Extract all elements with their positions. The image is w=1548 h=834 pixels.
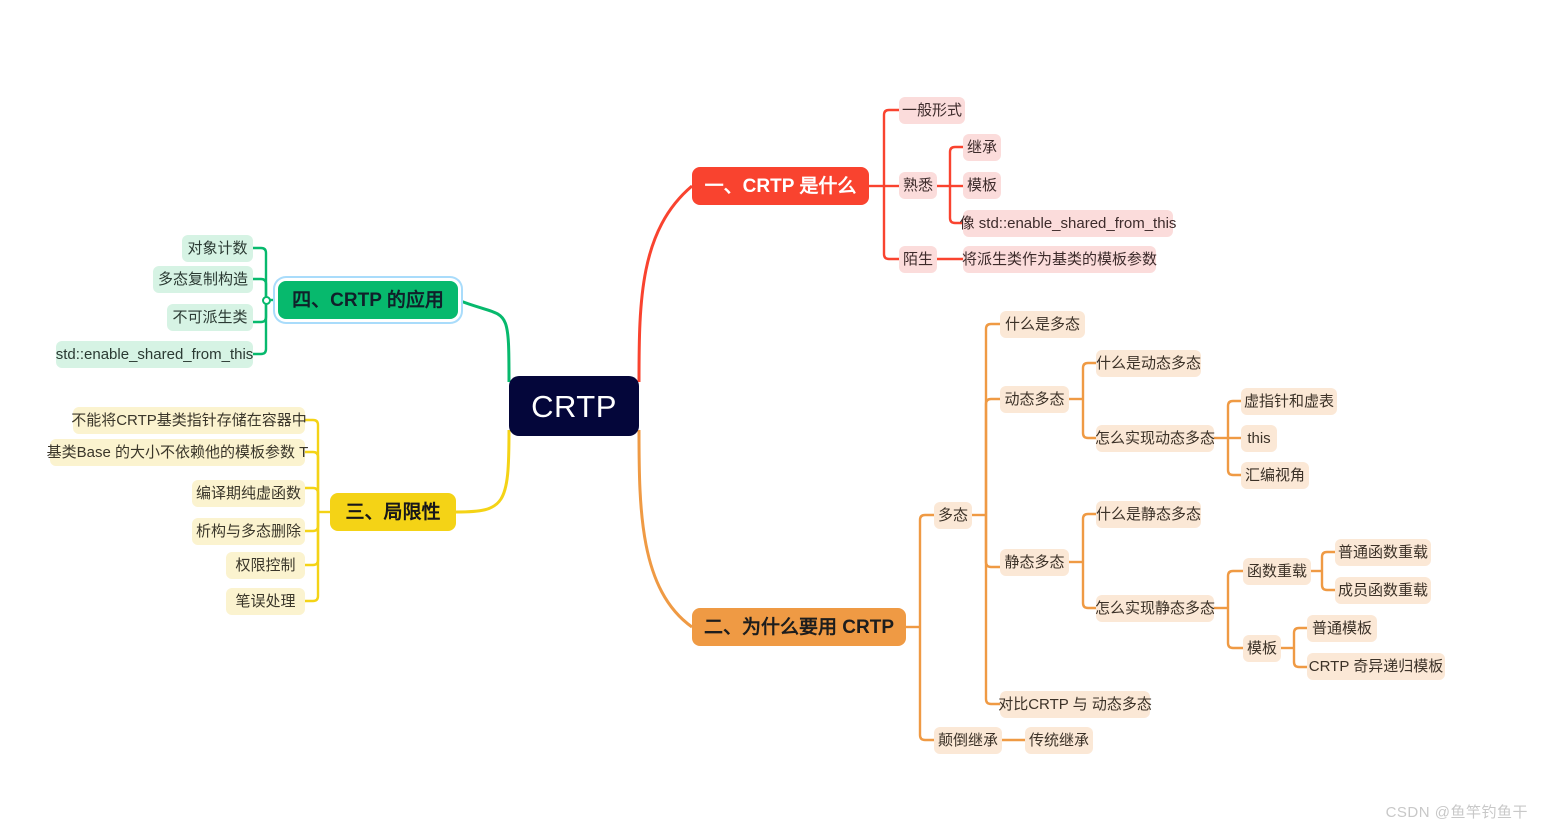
node-inheritance[interactable]: 继承 (963, 134, 1001, 161)
node-template-static[interactable]: 模板 (1243, 635, 1281, 662)
node-label: 什么是多态 (1005, 317, 1080, 332)
node-unfamiliar[interactable]: 陌生 (899, 246, 937, 273)
branch-node-limitations[interactable]: 三、局限性 (330, 493, 456, 531)
node-label: 不能将CRTP基类指针存储在容器中 (71, 413, 307, 428)
node-polymorphism[interactable]: 多态 (934, 502, 972, 529)
node-assembly-view[interactable]: 汇编视角 (1241, 462, 1309, 489)
node-label: 什么是静态多态 (1096, 507, 1201, 522)
node-this[interactable]: this (1241, 425, 1277, 452)
node-label: 什么是动态多态 (1096, 356, 1201, 371)
node-traditional-inheritance[interactable]: 传统继承 (1025, 727, 1093, 754)
collapse-toggle-dot[interactable] (262, 296, 271, 305)
node-label: 模板 (1247, 641, 1277, 656)
node-label: 颠倒继承 (938, 733, 998, 748)
node-label: 虚指针和虚表 (1244, 394, 1334, 409)
branch-node-what-is-crtp[interactable]: 一、CRTP 是什么 (692, 167, 869, 205)
node-label: 像 std::enable_shared_from_this (960, 216, 1177, 231)
node-crtp-curiously-recurring-template[interactable]: CRTP 奇异递归模板 (1307, 653, 1445, 680)
node-label: 动态多态 (1005, 392, 1065, 407)
node-plain-function-overload[interactable]: 普通函数重载 (1335, 539, 1431, 566)
csdn-watermark: CSDN @鱼竿钓鱼干 (1386, 801, 1528, 822)
node-label: 模板 (967, 178, 997, 193)
node-dynamic-polymorphism[interactable]: 动态多态 (1000, 386, 1069, 413)
node-label: 不可派生类 (173, 310, 248, 325)
node-label: 静态多态 (1005, 555, 1065, 570)
node-access-control[interactable]: 权限控制 (226, 552, 305, 579)
node-what-is-dynamic-polymorphism[interactable]: 什么是动态多态 (1096, 350, 1201, 377)
node-label: 陌生 (903, 252, 933, 267)
node-compile-time-pure-virtual[interactable]: 编译期纯虚函数 (192, 480, 305, 507)
branch-node-label: 三、局限性 (346, 503, 441, 522)
node-what-is-static-polymorphism[interactable]: 什么是静态多态 (1096, 501, 1201, 528)
node-enable-shared-from-this[interactable]: std::enable_shared_from_this (56, 341, 253, 368)
node-label: 多态 (938, 508, 968, 523)
node-label: 怎么实现动态多态 (1095, 431, 1215, 446)
node-label: 笔误处理 (235, 594, 295, 609)
node-general-form[interactable]: 一般形式 (899, 97, 965, 124)
node-function-overload[interactable]: 函数重载 (1243, 558, 1311, 585)
node-base-size-independent-of-t[interactable]: 基类Base 的大小不依赖他的模板参数 T (50, 439, 305, 466)
node-destructor-polymorphic-delete[interactable]: 析构与多态删除 (192, 518, 305, 545)
node-familiar[interactable]: 熟悉 (899, 172, 937, 199)
root-node-crtp[interactable]: CRTP (509, 376, 639, 436)
node-label: 析构与多态删除 (196, 524, 301, 539)
node-label: 普通模板 (1312, 621, 1372, 636)
node-label: 熟悉 (903, 178, 933, 193)
node-label: 汇编视角 (1245, 468, 1305, 483)
node-label: 成员函数重载 (1338, 583, 1428, 598)
node-what-is-polymorphism[interactable]: 什么是多态 (1000, 311, 1085, 338)
node-member-function-overload[interactable]: 成员函数重载 (1335, 577, 1431, 604)
branch-node-crtp-applications[interactable]: 四、CRTP 的应用 (278, 281, 458, 319)
node-label: std::enable_shared_from_this (56, 347, 254, 362)
node-label: 传统继承 (1029, 733, 1089, 748)
node-label: 普通函数重载 (1338, 545, 1428, 560)
node-how-dynamic-polymorphism[interactable]: 怎么实现动态多态 (1096, 425, 1214, 452)
node-how-static-polymorphism[interactable]: 怎么实现静态多态 (1096, 595, 1214, 622)
node-cannot-store-base-ptr-in-container[interactable]: 不能将CRTP基类指针存储在容器中 (73, 407, 305, 434)
mindmap-canvas[interactable]: CRTP 一、CRTP 是什么 一般形式 熟悉 继承 模板 像 std::ena… (0, 0, 1548, 834)
node-label: 基类Base 的大小不依赖他的模板参数 T (47, 445, 309, 460)
node-label: 编译期纯虚函数 (196, 486, 301, 501)
node-label: 对象计数 (188, 241, 248, 256)
node-label: 权限控制 (235, 558, 295, 573)
node-label: 一般形式 (902, 103, 962, 118)
node-like-enable-shared-from-this[interactable]: 像 std::enable_shared_from_this (963, 210, 1173, 237)
node-label: 对比CRTP 与 动态多态 (998, 697, 1152, 712)
branch-node-why-use-crtp[interactable]: 二、为什么要用 CRTP (692, 608, 906, 646)
node-plain-template[interactable]: 普通模板 (1307, 615, 1377, 642)
node-object-counting[interactable]: 对象计数 (182, 235, 253, 262)
node-typo-handling[interactable]: 笔误处理 (226, 588, 305, 615)
node-non-derivable-class[interactable]: 不可派生类 (167, 304, 253, 331)
node-label: 继承 (967, 140, 997, 155)
node-label: CRTP 奇异递归模板 (1309, 659, 1443, 674)
branch-node-label: 一、CRTP 是什么 (705, 177, 857, 196)
node-static-polymorphism[interactable]: 静态多态 (1000, 549, 1069, 576)
branch-node-label: 二、为什么要用 CRTP (704, 618, 894, 637)
node-compare-crtp-dynamic[interactable]: 对比CRTP 与 动态多态 (1000, 691, 1150, 718)
branch-node-label: 四、CRTP 的应用 (292, 291, 444, 310)
node-inverted-inheritance[interactable]: 颠倒继承 (934, 727, 1002, 754)
node-label: 将派生类作为基类的模板参数 (962, 252, 1157, 267)
node-label: 函数重载 (1247, 564, 1307, 579)
node-template[interactable]: 模板 (963, 172, 1001, 199)
node-label: 多态复制构造 (158, 272, 248, 287)
node-label: this (1247, 431, 1270, 446)
node-label: 怎么实现静态多态 (1095, 601, 1215, 616)
root-node-label: CRTP (531, 391, 617, 422)
node-vptr-and-vtable[interactable]: 虚指针和虚表 (1241, 388, 1337, 415)
node-polymorphic-copy-construction[interactable]: 多态复制构造 (153, 266, 253, 293)
node-derived-as-template-arg[interactable]: 将派生类作为基类的模板参数 (963, 246, 1156, 273)
